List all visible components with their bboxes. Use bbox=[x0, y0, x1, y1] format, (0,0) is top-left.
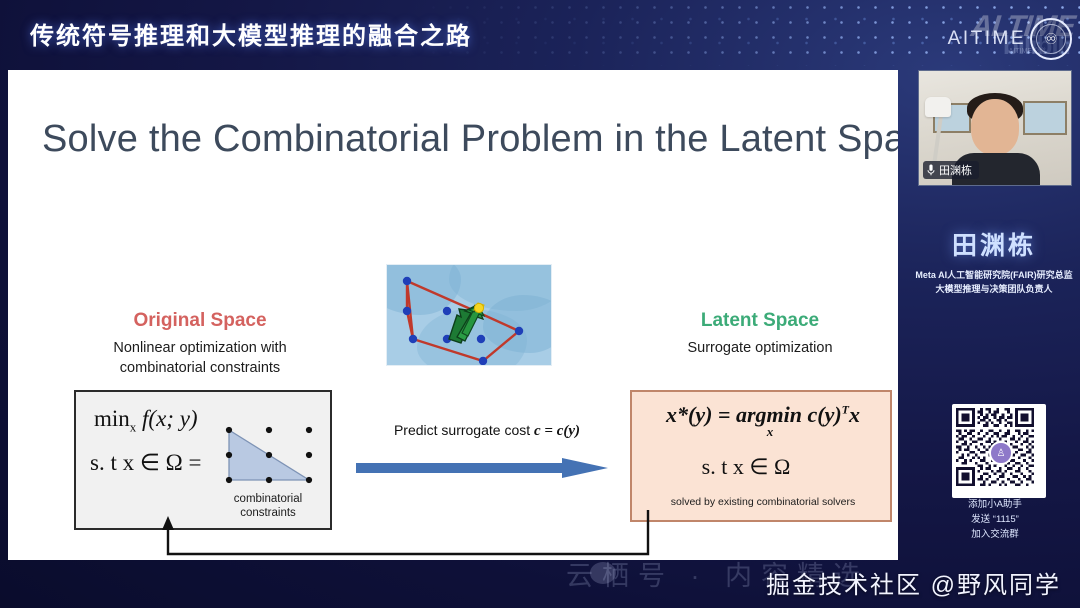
lamp-shade bbox=[925, 97, 951, 117]
wall-picture-right bbox=[1023, 101, 1067, 135]
qr-code[interactable]: ♙ bbox=[952, 404, 1046, 498]
latent-space-header: Latent Space Surrogate optimization bbox=[620, 310, 898, 359]
feedback-loop-arrow bbox=[148, 510, 788, 560]
slide-surface: Solve the Combinatorial Problem in the L… bbox=[8, 70, 898, 560]
formula-constraint: s. t x ∈ Ω = bbox=[90, 450, 201, 476]
solver-note: solved by existing combinatorial solvers bbox=[638, 496, 888, 508]
original-space-formula-box: minx f(x; y) s. t x ∈ Ω = combinatorial … bbox=[74, 390, 332, 530]
latent-space-subtitle: Surrogate optimization bbox=[620, 339, 898, 359]
speaker-role-line2: 大模型推理与决策团队负责人 bbox=[908, 283, 1080, 297]
combinatorial-triangle-diagram bbox=[221, 422, 321, 490]
latent-polygon-svg bbox=[387, 265, 551, 365]
formula-latent-constraint: s. t x ∈ Ω bbox=[646, 454, 846, 480]
original-space-header: Original Space Nonlinear optimization wi… bbox=[60, 310, 340, 378]
qr-caption-line2: 发送 “1115” bbox=[915, 512, 1075, 527]
latent-space-diagram bbox=[386, 264, 552, 366]
qr-caption: 添加小A助手 发送 “1115” 加入交流群 bbox=[915, 497, 1075, 543]
screen-root: 传统符号推理和大模型推理的融合之路 ALTIME bilibili AITIME… bbox=[0, 0, 1080, 608]
seal-glyph: ♾ bbox=[1044, 32, 1057, 47]
mic-icon bbox=[927, 164, 935, 176]
page-title: 传统符号推理和大模型推理的融合之路 bbox=[30, 16, 472, 51]
slide-title: Solve the Combinatorial Problem in the L… bbox=[42, 118, 898, 161]
formula-min: minx f(x; y) bbox=[94, 406, 198, 436]
aitime-seal-icon: ♾ bbox=[1030, 18, 1072, 60]
original-space-subtitle: Nonlinear optimization with combinatoria… bbox=[60, 339, 340, 378]
formula-argmin: x*(y) = argmin c(y)Tx x bbox=[646, 402, 880, 440]
qr-canvas: ♙ bbox=[956, 408, 1042, 494]
speaker-name: 田渊栋 bbox=[908, 226, 1080, 262]
predict-arrow-icon bbox=[356, 458, 608, 478]
webcam-name-text: 田渊栋 bbox=[939, 162, 972, 178]
original-space-title: Original Space bbox=[60, 310, 340, 332]
qr-logo-glyph: ♙ bbox=[997, 448, 1006, 459]
speaker-info: 田渊栋 Meta AI人工智能研究院(FAIR)研究总监 大模型推理与决策团队负… bbox=[908, 226, 1080, 297]
speaker-role-line1: Meta AI人工智能研究院(FAIR)研究总监 bbox=[908, 269, 1080, 283]
brand-label: AITIME bbox=[948, 28, 1026, 50]
qr-caption-line1: 添加小A助手 bbox=[915, 497, 1075, 512]
qr-center-logo-icon: ♙ bbox=[989, 441, 1013, 465]
title-bar: 传统符号推理和大模型推理的融合之路 ALTIME bilibili AITIME… bbox=[0, 0, 1080, 66]
latent-space-formula-box: x*(y) = argmin c(y)Tx x s. t x ∈ Ω solve… bbox=[630, 390, 892, 522]
channel-watermark: 掘金技术社区 @野风同学 bbox=[766, 565, 1061, 600]
webcam-name-badge: 田渊栋 bbox=[923, 161, 979, 179]
predict-surrogate-label: Predict surrogate cost c = c(y) bbox=[352, 422, 622, 440]
qr-caption-line3: 加入交流群 bbox=[915, 527, 1075, 542]
brand-logo: AITIME ♾ bbox=[948, 18, 1072, 60]
speaker-webcam-feed[interactable]: 田渊栋 bbox=[918, 70, 1072, 186]
latent-space-title: Latent Space bbox=[620, 310, 898, 332]
speaker-face bbox=[971, 99, 1019, 155]
